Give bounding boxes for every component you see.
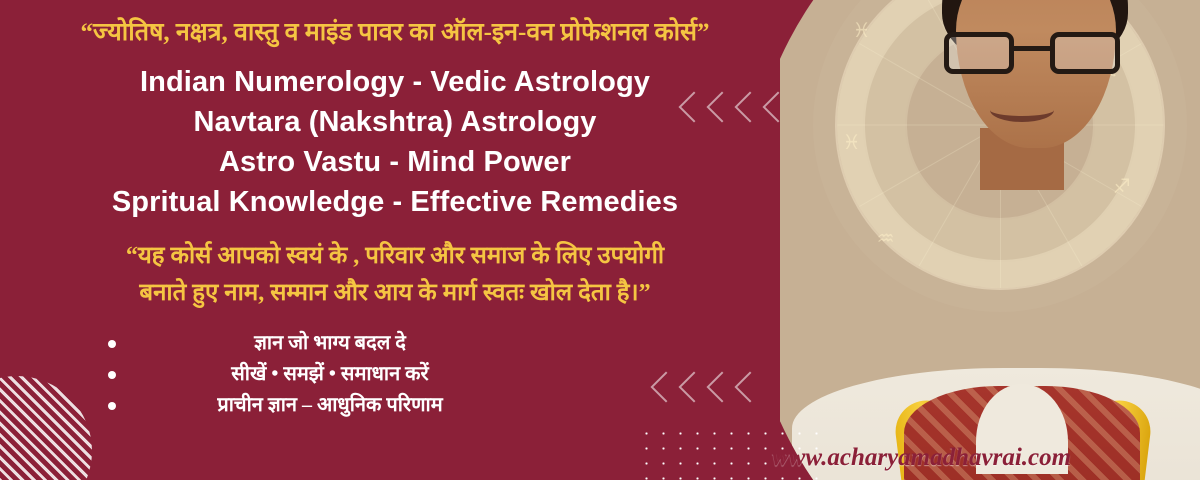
testimonial-quote: “यह कोर्स आपको स्वयं के , परिवार और समाज… [0, 238, 790, 312]
list-item: प्राचीन ज्ञान – आधुनिक परिणाम [0, 390, 790, 421]
course-line: Astro Vastu - Mind Power [0, 142, 790, 182]
photo-circular-clip: ♓ ♓ ♒ ♎ ♏ ♐ [780, 0, 1200, 480]
headline: “ज्योतिष, नक्षत्र, वास्तु व माइंड पावर क… [0, 10, 790, 48]
list-item: सीखें • समझें • समाधान करें [0, 359, 790, 390]
promo-banner: ♓ ♓ ♒ ♎ ♏ ♐ [0, 0, 1200, 480]
banner-text-content: “ज्योतिष, नक्षत्र, वास्तु व माइंड पावर क… [0, 0, 790, 480]
smile [990, 98, 1054, 122]
course-line: Indian Numerology - Vedic Astrology [0, 62, 790, 102]
list-item: ज्ञान जो भाग्य बदल दे [0, 328, 790, 359]
course-line: Spritual Knowledge - Effective Remedies [0, 182, 790, 222]
website-url[interactable]: www.acharyamadhavrai.com [772, 444, 1071, 472]
course-line: Navtara (Nakshtra) Astrology [0, 102, 790, 142]
astrologer-figure [780, 0, 1200, 480]
benefit-list: ज्ञान जो भाग्य बदल दे सीखें • समझें • सम… [0, 328, 790, 421]
quote-line: “यह कोर्स आपको स्वयं के , परिवार और समाज… [18, 238, 772, 275]
quote-line: बनाते हुए नाम, सम्मान और आय के मार्ग स्व… [18, 275, 772, 312]
astrologer-photo-panel: ♓ ♓ ♒ ♎ ♏ ♐ [780, 0, 1200, 480]
photo-background: ♓ ♓ ♒ ♎ ♏ ♐ [780, 0, 1200, 480]
eyeglasses-icon [944, 32, 1120, 76]
course-list: Indian Numerology - Vedic Astrology Navt… [0, 62, 790, 222]
